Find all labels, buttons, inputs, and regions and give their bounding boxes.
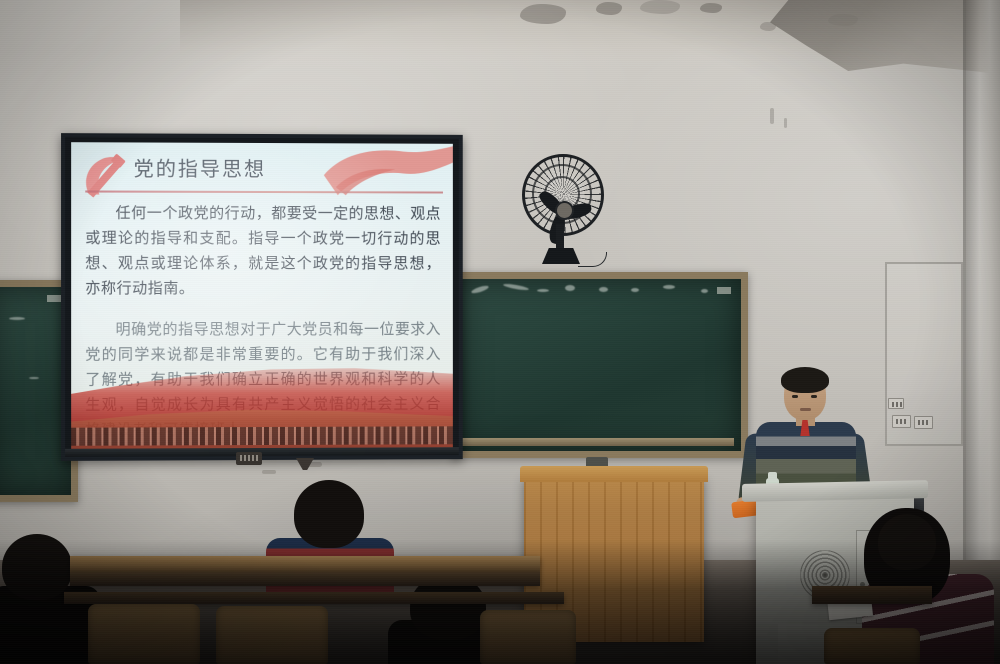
blackboard-main bbox=[452, 272, 748, 458]
seat-back-center bbox=[216, 606, 328, 664]
desk-row-front bbox=[70, 556, 540, 572]
chalk-smudge bbox=[663, 285, 675, 289]
chalk-tray bbox=[452, 438, 734, 446]
seat-back-left bbox=[88, 604, 200, 664]
wall-mounted-fan[interactable] bbox=[516, 148, 608, 268]
presentation-slide: 党的指导思想 任何一个政党的行动，都要受一定的思想、观点或理论的指导和支配。指导… bbox=[71, 142, 453, 450]
hammer-and-sickle-emblem bbox=[79, 150, 133, 200]
fan-hub bbox=[555, 201, 574, 220]
student-head bbox=[2, 534, 72, 600]
student-head bbox=[294, 480, 364, 548]
screen-mount-bracket bbox=[236, 452, 262, 465]
lectern-top-surface bbox=[742, 480, 928, 502]
slide-title: 党的指导思想 bbox=[134, 154, 445, 183]
chalk-smudge bbox=[599, 287, 608, 292]
chalk-smudge bbox=[701, 289, 708, 293]
lecturer-eye bbox=[792, 395, 798, 398]
bottle-cap bbox=[768, 472, 777, 480]
slide-crowd-strip bbox=[71, 426, 453, 445]
fan-power-cord bbox=[578, 252, 607, 267]
seat-back-right bbox=[824, 628, 920, 664]
slide-paragraph-1: 任何一个政党的行动，都要受一定的思想、观点或理论的指导和支配。指导一个政党一切行… bbox=[85, 201, 441, 301]
classroom-lecture-photo: 党的指导思想 任何一个政党的行动，都要受一定的思想、观点或理论的指导和支配。指导… bbox=[0, 0, 1000, 664]
desk-row-second bbox=[64, 592, 564, 604]
desk-row-front-face bbox=[70, 572, 540, 586]
lecturer-mouth bbox=[800, 408, 811, 411]
lecturer-eye bbox=[811, 395, 817, 398]
chalk-smudge bbox=[29, 377, 39, 379]
student-head bbox=[878, 514, 936, 570]
fan-neck bbox=[556, 224, 564, 252]
desk-right bbox=[812, 586, 932, 604]
power-socket[interactable] bbox=[914, 416, 933, 429]
fan-wall-bracket bbox=[542, 248, 580, 264]
chalk-smudge bbox=[503, 283, 529, 291]
lecturer-hair bbox=[781, 367, 829, 393]
blackboard-tag bbox=[717, 287, 731, 294]
seat-back-center-right bbox=[480, 610, 576, 664]
chalk-smudge bbox=[471, 284, 490, 294]
power-socket[interactable] bbox=[888, 398, 904, 409]
power-socket[interactable] bbox=[892, 415, 911, 428]
chalk-smudge bbox=[9, 317, 25, 320]
chalk-smudge bbox=[631, 288, 639, 292]
podium-top-edge bbox=[520, 466, 708, 482]
chalk-smudge bbox=[537, 289, 549, 292]
projection-screen: 党的指导思想 任何一个政党的行动，都要受一定的思想、观点或理论的指导和支配。指导… bbox=[61, 133, 463, 461]
chalk-smudge bbox=[565, 285, 575, 291]
title-divider bbox=[85, 190, 443, 193]
blackboard-tag bbox=[47, 295, 61, 302]
